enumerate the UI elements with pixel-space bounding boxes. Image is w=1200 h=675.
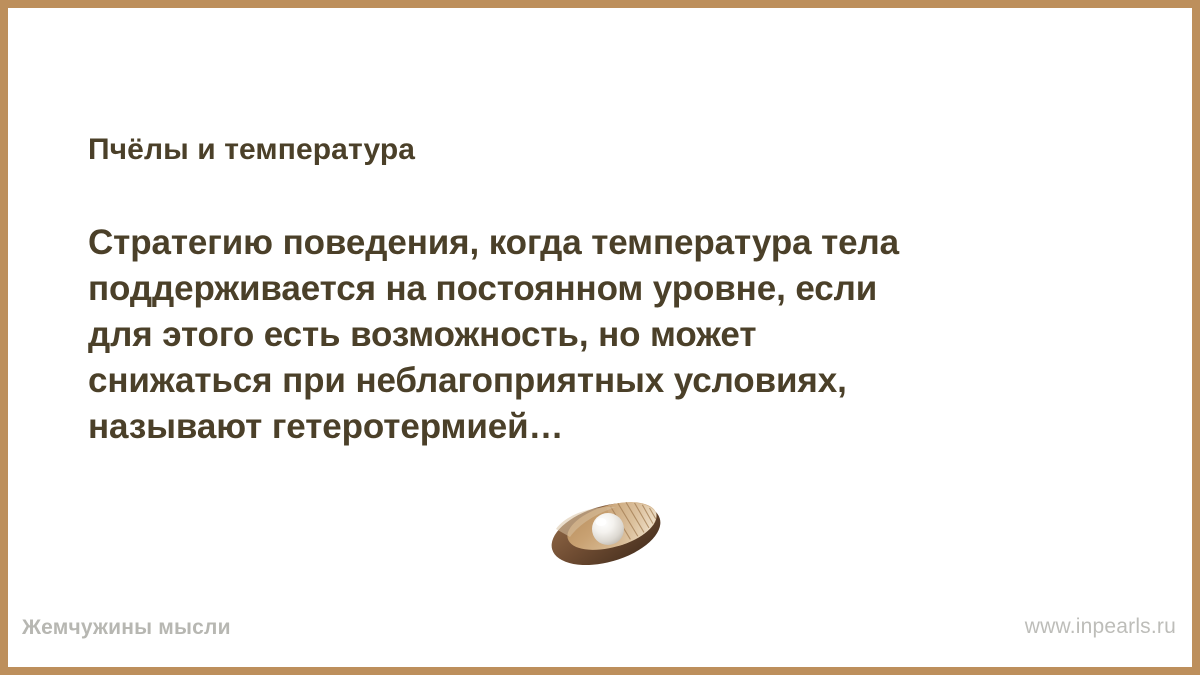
shell-with-pearl-icon [546, 493, 672, 567]
pearl [592, 513, 624, 545]
quote-line: снижаться при неблагоприятных условиях, [88, 358, 1118, 404]
footer-site-url[interactable]: www.inpearls.ru [1025, 615, 1176, 639]
slide-canvas: Пчёлы и температура Стратегию поведения,… [8, 8, 1192, 667]
quote-line: Стратегию поведения, когда температура т… [88, 220, 1118, 266]
quote-line: для этого есть возможность, но может [88, 312, 1118, 358]
page-title: Пчёлы и температура [88, 133, 415, 167]
quote-body: Стратегию поведения, когда температура т… [88, 220, 1118, 450]
pearl-specular-highlight [596, 518, 607, 526]
slide-frame: Пчёлы и температура Стратегию поведения,… [0, 0, 1200, 675]
quote-line: поддерживается на постоянном уровне, есл… [88, 266, 1118, 312]
footer-brand-label: Жемчужины мысли [22, 616, 231, 640]
quote-line: называют гетеротермией… [88, 404, 1118, 450]
